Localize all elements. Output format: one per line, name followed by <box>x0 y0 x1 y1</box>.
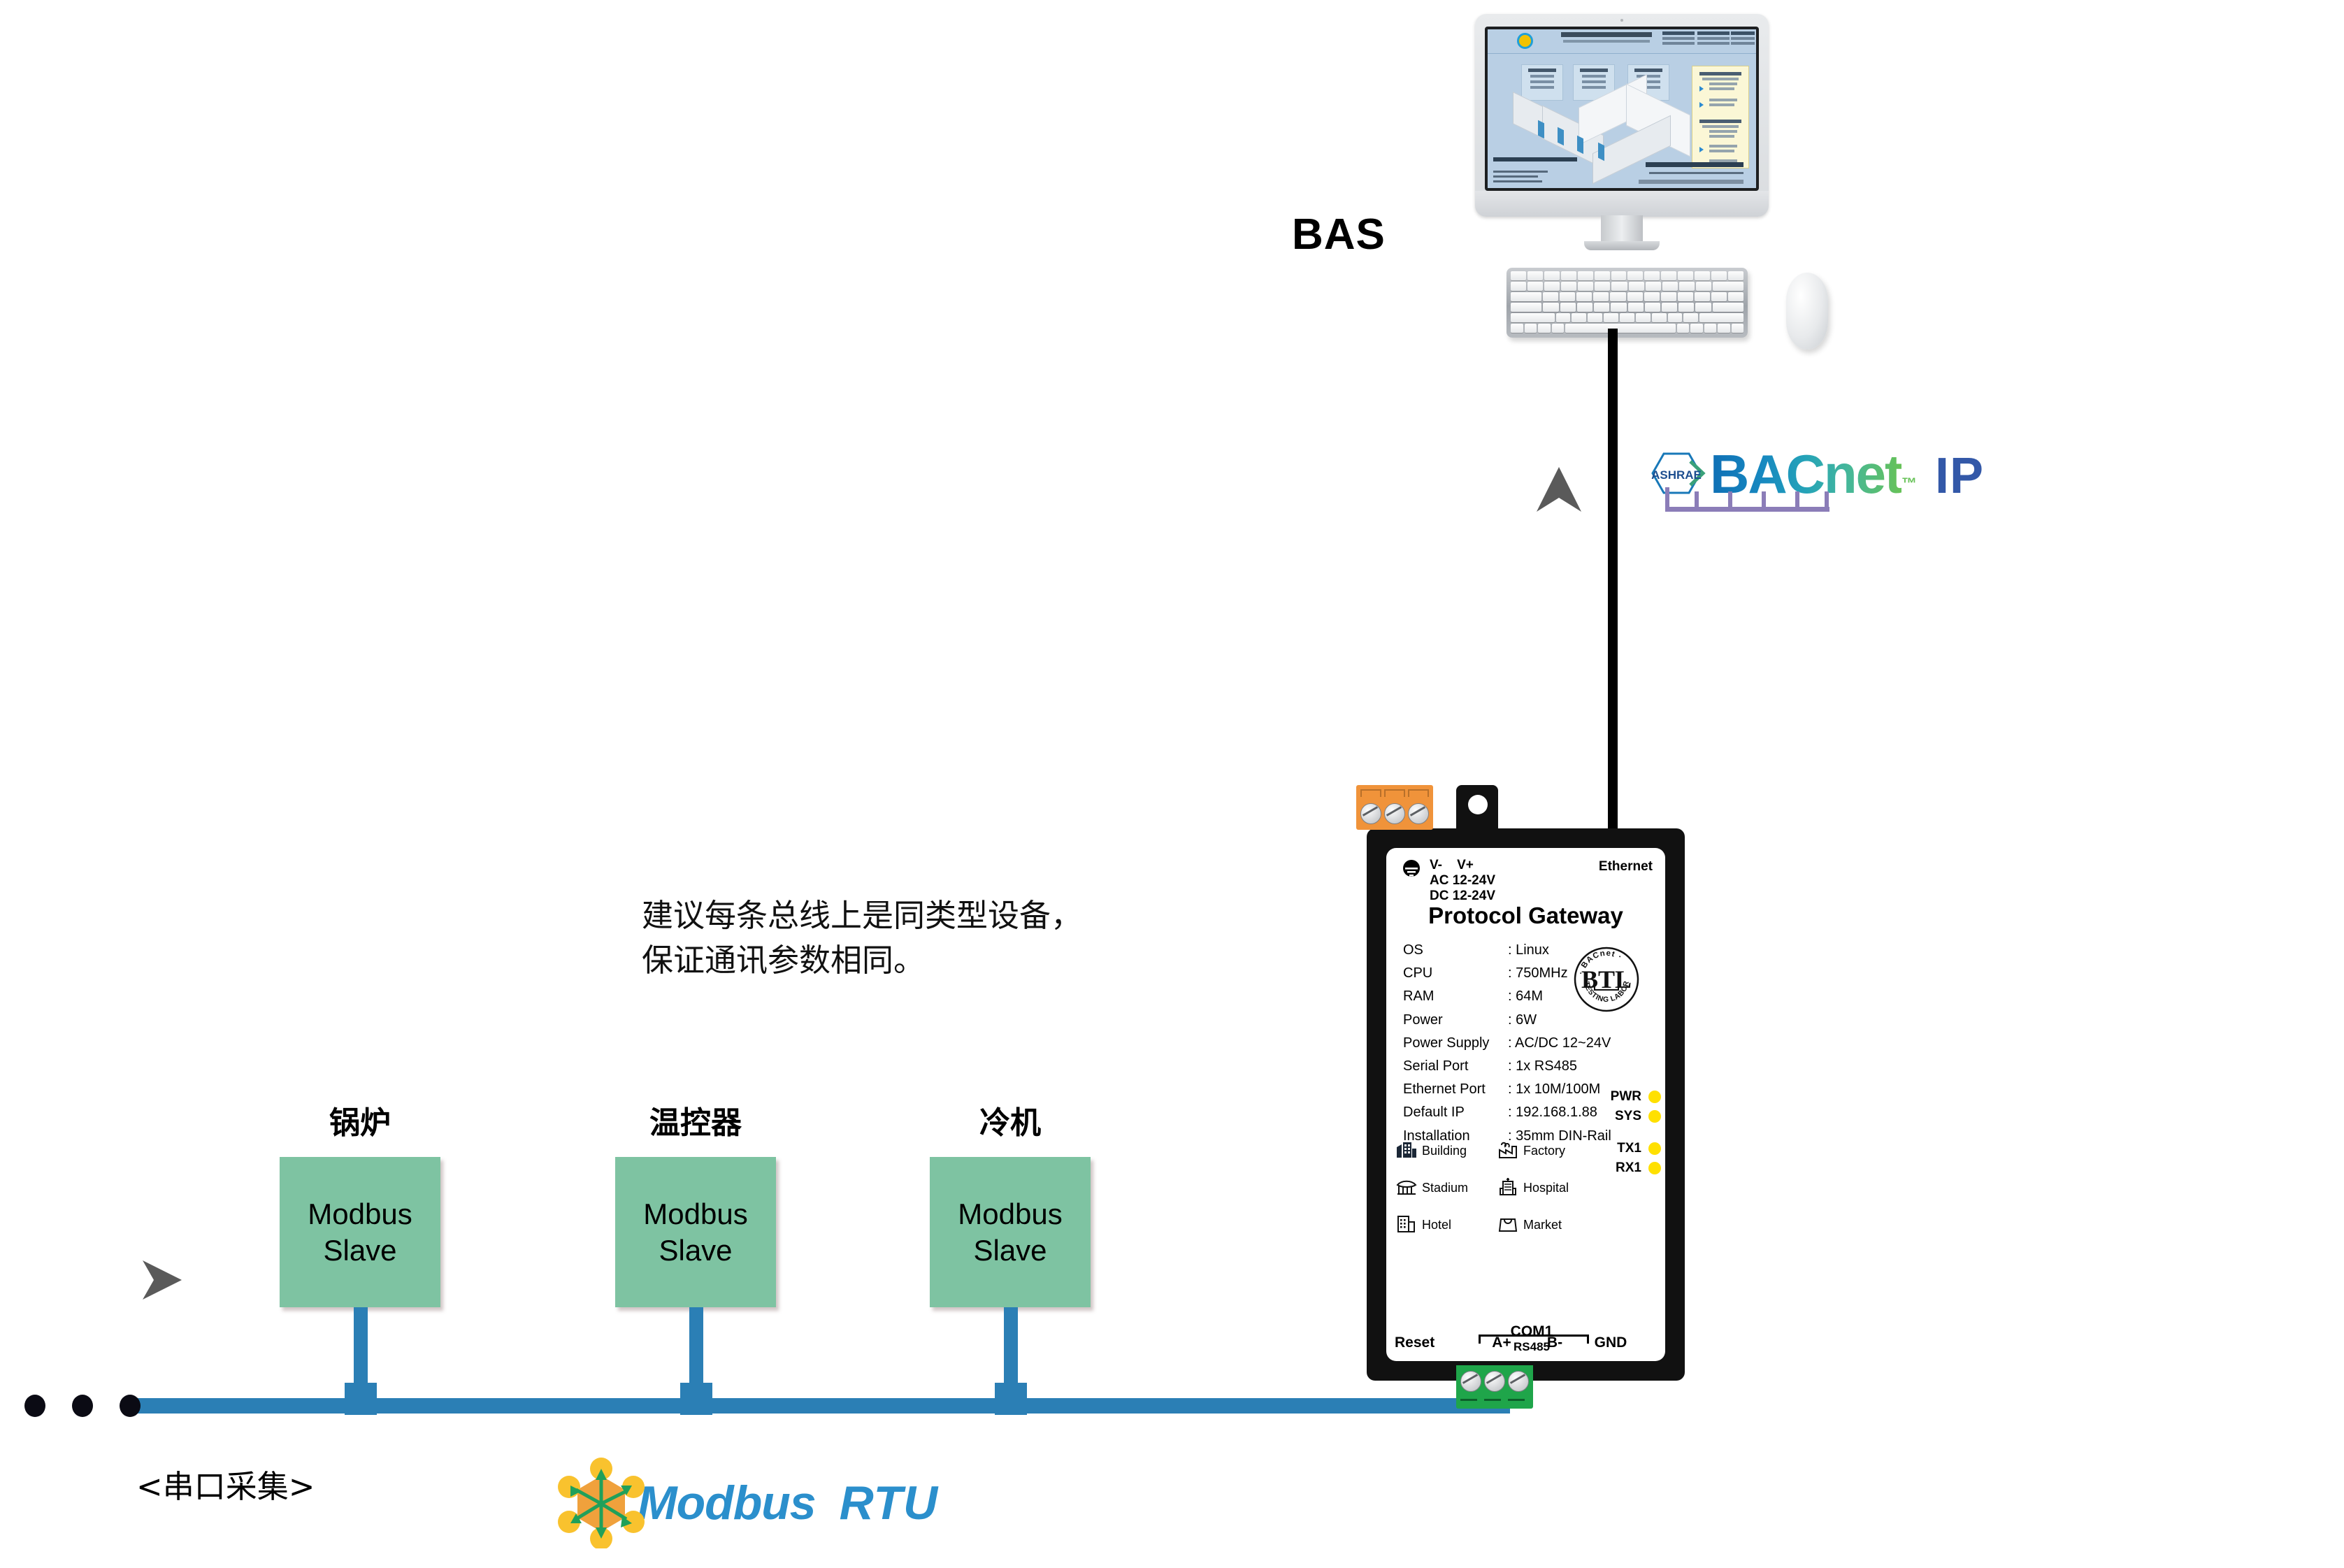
key[interactable] <box>1544 282 1560 291</box>
scada-footer-bar <box>1639 180 1743 184</box>
key-shift-left[interactable] <box>1511 313 1555 322</box>
application-icon-grid: Building Factory Stadium Hospital <box>1396 1140 1599 1251</box>
device-box-chiller: Modbus Slave <box>930 1157 1091 1307</box>
btl-certification-logo: · BACnet · TESTING LABORATORIES BTL <box>1573 946 1640 1013</box>
device-box-thermostat: Modbus Slave <box>615 1157 776 1307</box>
spec-value: : 1x 10M/100M <box>1508 1078 1600 1101</box>
spec-key: CPU <box>1403 962 1508 985</box>
bacnet-trademark: ™ <box>1901 475 1917 492</box>
key[interactable] <box>1728 292 1743 301</box>
led-label: SYS <box>1615 1109 1641 1124</box>
key[interactable] <box>1728 271 1743 280</box>
key-space[interactable] <box>1565 324 1676 333</box>
monitor-screen-frame <box>1485 27 1759 191</box>
power-terminal-labels: V- V+ AC 12-24V DC 12-24V <box>1430 858 1495 904</box>
key[interactable] <box>1560 292 1575 301</box>
monitor-chin <box>1475 191 1769 217</box>
scada-footer-line <box>1493 171 1548 173</box>
key-arrow-updown[interactable] <box>1718 324 1730 333</box>
bus-direction-arrow <box>137 1255 187 1309</box>
key[interactable] <box>1629 282 1644 291</box>
key-control[interactable] <box>1525 324 1537 333</box>
bacnet-ip-variant: IP <box>1935 448 1984 504</box>
key[interactable] <box>1668 313 1683 322</box>
spec-key: Default IP <box>1403 1101 1508 1124</box>
keyboard-row-shift[interactable] <box>1511 313 1743 322</box>
device-drop-line-1 <box>689 1307 703 1383</box>
key[interactable] <box>1572 313 1586 322</box>
key[interactable] <box>1561 282 1576 291</box>
device-role-line2: Slave <box>973 1232 1047 1268</box>
uplink-direction-arrow <box>1531 461 1587 521</box>
key[interactable] <box>1711 271 1727 280</box>
app-building: Building <box>1396 1140 1497 1162</box>
ellipsis-dot <box>120 1395 141 1417</box>
key-tab[interactable] <box>1511 292 1541 301</box>
modbus-rtu-bus-line <box>129 1398 1510 1414</box>
spec-value: : AC/DC 12~24V <box>1508 1032 1611 1055</box>
key[interactable] <box>1578 282 1593 291</box>
spec-key: Ethernet Port <box>1403 1078 1508 1101</box>
app-row: Hotel Market <box>1396 1214 1599 1236</box>
pin-a-plus: A+ <box>1480 1335 1523 1351</box>
key[interactable] <box>1576 292 1592 301</box>
hotel-icon <box>1396 1214 1417 1236</box>
pin-b-minus: B- <box>1533 1335 1576 1351</box>
key[interactable] <box>1527 271 1543 280</box>
rs485-terminal-block <box>1456 1365 1533 1409</box>
key[interactable] <box>1627 271 1643 280</box>
key[interactable] <box>1544 271 1560 280</box>
app-label: Stadium <box>1422 1181 1468 1195</box>
spec-key: Power <box>1403 1009 1508 1032</box>
scada-logo-icon <box>1517 33 1533 49</box>
scada-clock-field <box>1662 31 1695 47</box>
scada-equipment-marker <box>1558 127 1564 145</box>
modbus-rtu-logo: Modbus RTU <box>552 1458 938 1548</box>
key[interactable] <box>1678 303 1694 312</box>
com1-pin-row: Reset A+ B- GND <box>1395 1335 1638 1351</box>
keyboard-row-qwerty[interactable] <box>1511 292 1743 301</box>
rx1-led-icon <box>1648 1162 1661 1174</box>
key[interactable] <box>1588 313 1602 322</box>
key[interactable] <box>1636 313 1651 322</box>
spec-key: Power Supply <box>1403 1032 1508 1055</box>
bus-continuation-ellipsis <box>24 1395 141 1417</box>
key-option-right[interactable] <box>1690 324 1703 333</box>
device-role-line1: Modbus <box>308 1196 412 1232</box>
key-fn[interactable] <box>1511 324 1523 333</box>
device-label-1: 温控器 <box>605 1098 786 1142</box>
led-label: RX1 <box>1616 1160 1641 1176</box>
bas-label: BAS <box>1292 210 1386 259</box>
key-shift-right[interactable] <box>1699 313 1743 322</box>
key[interactable] <box>1620 313 1634 322</box>
scada-company-name <box>1493 157 1577 161</box>
scada-sensor-card <box>1521 64 1563 101</box>
key[interactable] <box>1695 303 1711 312</box>
key[interactable] <box>1604 313 1618 322</box>
ellipsis-dot <box>24 1395 45 1417</box>
key[interactable] <box>1695 292 1710 301</box>
key[interactable] <box>1511 271 1526 280</box>
status-led-panel: PWR SYS TX1 RX1 <box>1611 1087 1661 1178</box>
scada-side-panel <box>1692 66 1749 168</box>
app-hotel: Hotel <box>1396 1214 1497 1236</box>
app-stadium: Stadium <box>1396 1177 1497 1199</box>
device-drop-line-2 <box>1004 1307 1018 1383</box>
keyboard-row-home[interactable] <box>1511 303 1743 312</box>
gateway-title: Protocol Gateway <box>1386 902 1665 929</box>
device-box-boiler: Modbus Slave <box>280 1157 440 1307</box>
key[interactable] <box>1543 303 1558 312</box>
sys-led-icon <box>1648 1110 1661 1123</box>
keyboard-row-numbers[interactable] <box>1511 282 1743 291</box>
app-label: Hospital <box>1523 1181 1569 1195</box>
scada-title-bar <box>1561 32 1652 37</box>
key[interactable] <box>1645 303 1660 312</box>
key[interactable] <box>1595 282 1610 291</box>
spec-value: : 750MHz <box>1508 962 1568 985</box>
note-line-1: 建议每条总线上是同类型设备， <box>642 893 1082 938</box>
keyboard[interactable] <box>1507 268 1748 338</box>
spec-row: Power Supply: AC/DC 12~24V <box>1403 1032 1611 1055</box>
key[interactable] <box>1661 271 1676 280</box>
key[interactable] <box>1661 292 1676 301</box>
key[interactable] <box>1527 282 1543 291</box>
bas-workstation-monitor <box>1475 14 1769 245</box>
ashrae-hexagon-icon: ASHRAE <box>1651 452 1710 495</box>
key-arrow-right[interactable] <box>1732 324 1744 333</box>
modbus-wordmark: Modbus <box>638 1476 816 1530</box>
mouse[interactable] <box>1786 273 1828 350</box>
led-row-pwr: PWR <box>1611 1087 1661 1107</box>
scada-week-field <box>1731 31 1755 47</box>
ethernet-cable <box>1608 336 1618 835</box>
app-factory: Factory <box>1497 1140 1599 1162</box>
key[interactable] <box>1679 282 1695 291</box>
spec-key: Serial Port <box>1403 1055 1508 1078</box>
key[interactable] <box>1511 282 1526 291</box>
scada-equipment-marker <box>1577 136 1583 154</box>
market-icon <box>1497 1214 1518 1236</box>
key[interactable] <box>1646 282 1661 291</box>
key[interactable] <box>1611 282 1627 291</box>
app-hospital: Hospital <box>1497 1177 1599 1199</box>
app-label: Building <box>1422 1144 1467 1158</box>
device-label-2: 冷机 <box>930 1098 1091 1142</box>
app-label: Market <box>1523 1218 1562 1232</box>
scada-screen <box>1488 29 1756 188</box>
scada-footer-company <box>1646 162 1743 167</box>
app-label: Hotel <box>1422 1218 1451 1232</box>
scada-play-icon <box>1699 147 1704 152</box>
monitor-camera-dot <box>1620 19 1623 22</box>
key[interactable] <box>1556 313 1571 322</box>
device-role-line2: Slave <box>323 1232 396 1268</box>
building-icon <box>1396 1140 1417 1162</box>
key[interactable] <box>1543 292 1558 301</box>
key[interactable] <box>1593 292 1609 301</box>
power-terminal-block <box>1356 785 1433 830</box>
key[interactable] <box>1560 303 1576 312</box>
spec-key: OS <box>1403 939 1508 962</box>
device-role-line1: Modbus <box>643 1196 747 1232</box>
key[interactable] <box>1678 271 1693 280</box>
key[interactable] <box>1644 292 1660 301</box>
note-line-2: 保证通讯参数相同。 <box>642 938 1082 983</box>
scada-date-field <box>1697 31 1730 47</box>
key[interactable] <box>1628 303 1644 312</box>
modbus-rtu-variant: RTU <box>840 1476 939 1530</box>
key[interactable] <box>1577 303 1592 312</box>
key[interactable] <box>1652 313 1667 322</box>
led-label: PWR <box>1611 1089 1641 1105</box>
spec-value: : 6W <box>1508 1009 1537 1032</box>
serial-capture-label: <串口采集> <box>136 1461 315 1506</box>
key-option[interactable] <box>1538 324 1551 333</box>
app-market: Market <box>1497 1214 1599 1236</box>
key-command-right[interactable] <box>1677 324 1690 333</box>
monitor-stand-neck <box>1601 215 1643 243</box>
din-rail-tab <box>1407 1361 1425 1371</box>
key-delete[interactable] <box>1713 282 1743 291</box>
device-role-line2: Slave <box>659 1232 732 1268</box>
device-label-0: 锅炉 <box>280 1098 440 1142</box>
spec-key: RAM <box>1403 985 1508 1008</box>
scada-footer-line <box>1493 175 1538 178</box>
scada-equipment-marker <box>1598 143 1604 161</box>
key[interactable] <box>1695 271 1710 280</box>
led-row-rx1: RX1 <box>1611 1158 1661 1178</box>
monitor-bezel <box>1475 14 1769 217</box>
factory-icon <box>1497 1140 1518 1162</box>
key[interactable] <box>1644 271 1660 280</box>
app-row: Building Factory <box>1396 1140 1599 1162</box>
reset-label[interactable]: Reset <box>1395 1335 1480 1351</box>
ellipsis-dot <box>72 1395 93 1417</box>
key-return[interactable] <box>1713 303 1743 312</box>
key[interactable] <box>1683 313 1698 322</box>
stadium-icon <box>1396 1177 1417 1199</box>
key[interactable] <box>1696 282 1711 291</box>
led-row-sys: SYS <box>1611 1107 1661 1126</box>
app-row: Stadium Hospital <box>1396 1177 1599 1199</box>
key[interactable] <box>1627 292 1643 301</box>
key[interactable] <box>1662 282 1678 291</box>
ethernet-label: Ethernet <box>1599 859 1653 875</box>
device-role-line1: Modbus <box>958 1196 1062 1232</box>
keyboard-row-space[interactable] <box>1511 324 1743 333</box>
key[interactable] <box>1610 292 1625 301</box>
app-label: Factory <box>1523 1144 1565 1158</box>
bacnet-logo-underline <box>1665 507 1829 512</box>
key-capslock[interactable] <box>1511 303 1541 312</box>
ground-icon <box>1402 859 1421 882</box>
device-drop-line-0 <box>354 1307 368 1383</box>
scada-footer-contact <box>1649 172 1743 174</box>
key[interactable] <box>1611 271 1627 280</box>
spec-value: : 1x RS485 <box>1508 1055 1577 1078</box>
key-arrow-left[interactable] <box>1704 324 1717 333</box>
key[interactable] <box>1611 303 1626 312</box>
scada-play-icon <box>1699 86 1704 92</box>
gateway-faceplate: V- V+ AC 12-24V DC 12-24V Ethernet Proto… <box>1386 848 1665 1361</box>
key[interactable] <box>1595 271 1610 280</box>
ethernet-port-hole <box>1468 795 1488 814</box>
key[interactable] <box>1578 271 1593 280</box>
bus-guidance-note: 建议每条总线上是同类型设备， 保证通讯参数相同。 <box>642 893 1082 983</box>
monitor-stand-foot <box>1584 241 1660 250</box>
spec-value: : 192.168.1.88 <box>1508 1101 1597 1124</box>
led-row-tx1: TX1 <box>1611 1139 1661 1158</box>
spec-row: Ethernet Port: 1x 10M/100M <box>1403 1078 1611 1101</box>
scada-play-icon <box>1699 102 1704 108</box>
spec-row: Serial Port: 1x RS485 <box>1403 1055 1611 1078</box>
protocol-gateway-device: V- V+ AC 12-24V DC 12-24V Ethernet Proto… <box>1367 828 1685 1381</box>
led-label: TX1 <box>1617 1141 1641 1156</box>
pin-gnd: GND <box>1583 1335 1638 1351</box>
spec-value: : 64M <box>1508 985 1543 1008</box>
key[interactable] <box>1561 271 1576 280</box>
spec-row: Default IP: 192.168.1.88 <box>1403 1101 1611 1124</box>
key[interactable] <box>1678 292 1693 301</box>
key[interactable] <box>1594 303 1609 312</box>
bacnet-wordmark: BACnet <box>1710 443 1901 505</box>
hospital-icon <box>1497 1177 1518 1199</box>
svg-text:ASHRAE: ASHRAE <box>1651 468 1702 482</box>
key-command-left[interactable] <box>1552 324 1565 333</box>
modbus-mark-icon <box>552 1458 650 1548</box>
pwr-led-icon <box>1648 1091 1661 1103</box>
key[interactable] <box>1711 292 1727 301</box>
key[interactable] <box>1662 303 1677 312</box>
diagram-canvas: BAS <box>0 0 2344 1568</box>
keyboard-row-function[interactable] <box>1511 271 1743 280</box>
spec-value: : Linux <box>1508 939 1549 962</box>
scada-footer-line <box>1493 180 1542 182</box>
tx1-led-icon <box>1648 1142 1661 1155</box>
scada-subtitle-bar <box>1563 40 1650 43</box>
scada-equipment-marker <box>1538 120 1544 138</box>
